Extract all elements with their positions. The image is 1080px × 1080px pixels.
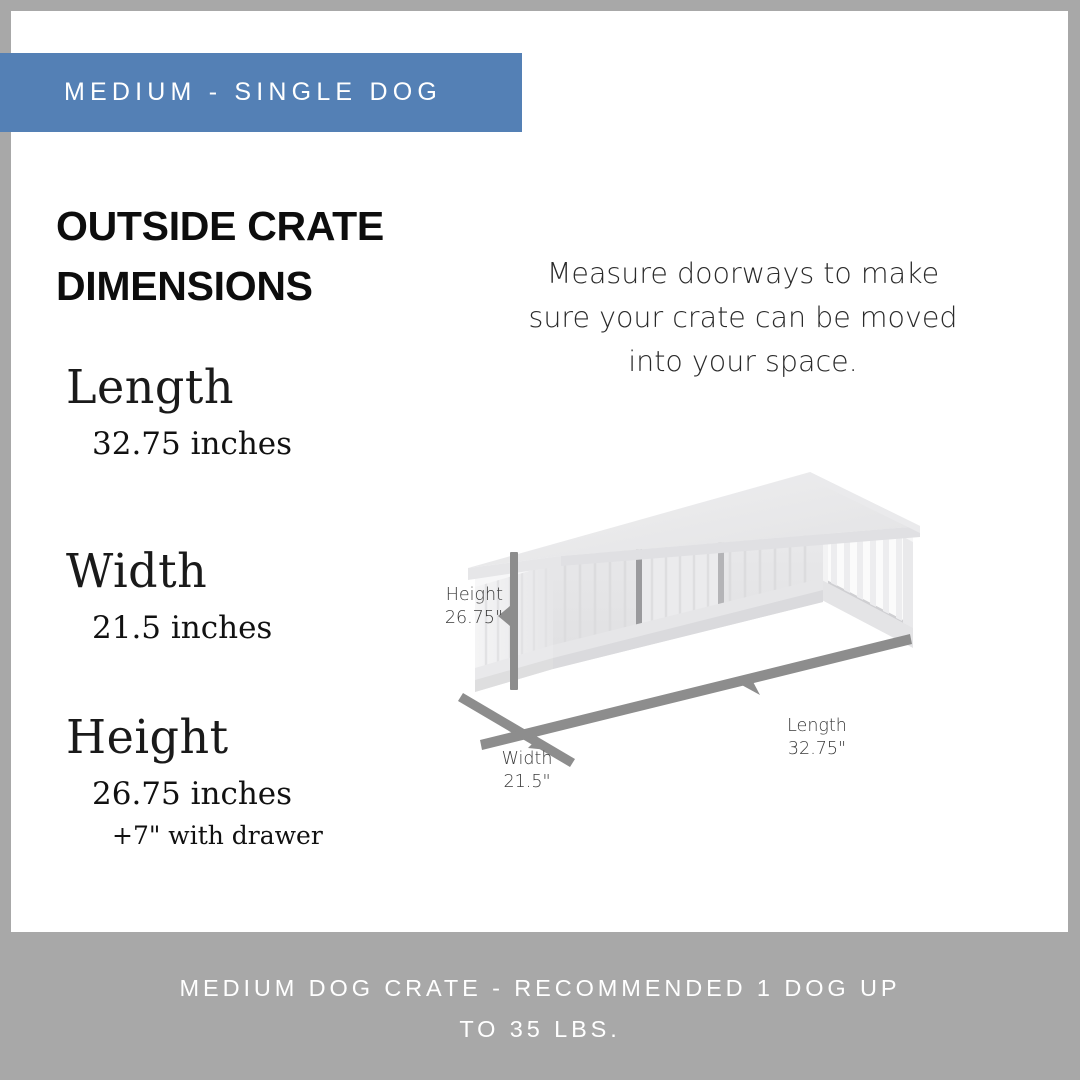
page-title: OUTSIDE CRATE DIMENSIONS — [56, 196, 476, 317]
dimension-label-height: Height — [56, 713, 476, 760]
dimension-value-width: 21.5 inches — [56, 613, 476, 644]
note-line-3: into your space. — [508, 340, 978, 384]
callout-width-label: Width — [490, 748, 564, 771]
callout-height-value: 26.75" — [437, 607, 503, 630]
callout-length: Length 32.75" — [775, 715, 859, 761]
dimension-note-drawer: +7" with drawer — [56, 823, 476, 848]
note-line-1: Measure doorways to make — [508, 252, 978, 296]
callout-length-value: 32.75" — [775, 738, 859, 761]
infographic-page: MEDIUM - SINGLE DOG OUTSIDE CRATE DIMENS… — [0, 0, 1080, 1080]
category-banner: MEDIUM - SINGLE DOG — [0, 53, 522, 132]
dimension-entry-width: Width 21.5 inches — [56, 548, 476, 644]
measure-doorways-note: Measure doorways to make sure your crate… — [508, 252, 978, 384]
callout-length-label: Length — [775, 715, 859, 738]
dimension-label-length: Length — [56, 363, 476, 410]
crate-illustration: Height 26.75" Width 21.5" Length 32.75" — [420, 390, 950, 830]
callout-height-label: Height — [437, 584, 503, 607]
callout-width-value: 21.5" — [490, 771, 564, 794]
note-line-2: sure your crate can be moved — [508, 296, 978, 340]
dimension-value-length: 32.75 inches — [56, 429, 476, 460]
dimension-value-height: 26.75 inches — [56, 779, 476, 810]
footer-line-2: TO 35 LBS. — [459, 1009, 620, 1050]
callout-width: Width 21.5" — [490, 748, 564, 794]
callout-height: Height 26.75" — [437, 584, 503, 630]
dimension-label-width: Width — [56, 547, 476, 594]
page-title-line-2: DIMENSIONS — [56, 256, 476, 316]
footer-banner: MEDIUM DOG CRATE - RECOMMENDED 1 DOG UP … — [0, 932, 1080, 1080]
footer-line-1: MEDIUM DOG CRATE - RECOMMENDED 1 DOG UP — [180, 968, 901, 1009]
dimension-entry-height: Height 26.75 inches +7" with drawer — [56, 714, 476, 848]
dimensions-column: OUTSIDE CRATE DIMENSIONS Length 32.75 in… — [56, 196, 476, 317]
category-banner-label: MEDIUM - SINGLE DOG — [0, 78, 442, 107]
page-title-line-1: OUTSIDE CRATE — [56, 196, 476, 256]
dimension-entry-length: Length 32.75 inches — [56, 364, 476, 460]
